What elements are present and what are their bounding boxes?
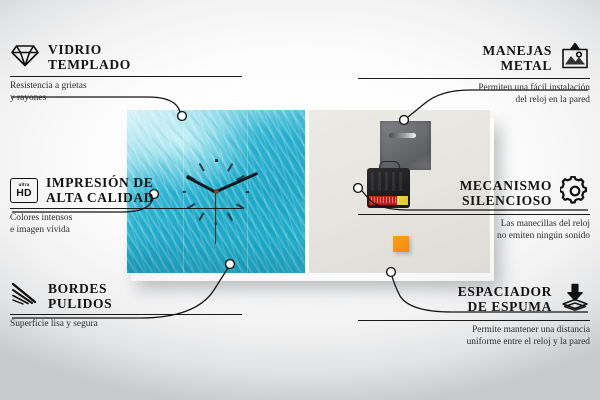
diamond-icon (10, 42, 40, 73)
feature-espaciador-espuma: ESPACIADOR DE ESPUMA Permite mantener un… (358, 282, 590, 348)
feature-title: ESPACIADOR DE ESPUMA (458, 285, 552, 314)
feature-title: IMPRESIÓN DE ALTA CALIDAD (46, 176, 154, 205)
feature-description: Permite mantener una distancia uniforme … (358, 325, 590, 348)
feature-header: ultra HD IMPRESIÓN DE ALTA CALIDAD (10, 176, 242, 205)
gear-icon (560, 176, 590, 211)
feature-header: BORDES PULIDOS (10, 282, 242, 311)
feature-description: Las manecillas del reloj no emiten ningú… (358, 219, 590, 242)
polished-edges-icon (10, 282, 40, 311)
feature-bordes-pulidos: BORDES PULIDOS Superficie lisa y segura (10, 282, 242, 331)
feature-header: MANEJAS METAL (358, 42, 590, 75)
feature-divider (10, 76, 242, 77)
feature-impresion-alta-calidad: ultra HD IMPRESIÓN DE ALTA CALIDAD Color… (10, 176, 242, 236)
feature-title: MANEJAS METAL (483, 44, 552, 73)
feature-title: BORDES PULIDOS (48, 282, 112, 311)
infographic-canvas: VIDRIO TEMPLADO Resistencia a grietas y … (0, 0, 600, 400)
feature-title: MECANISMO SILENCIOSO (460, 179, 552, 208)
feature-divider (358, 214, 590, 215)
down-arrow-pad-icon (560, 282, 590, 317)
feature-description: Superficie lisa y segura (10, 319, 242, 330)
feature-header: VIDRIO TEMPLADO (10, 42, 242, 73)
feature-divider (358, 78, 590, 79)
highlight-band-top (127, 110, 305, 138)
feature-divider (10, 208, 242, 209)
feature-divider (358, 320, 590, 321)
ultra-hd-icon: ultra HD (10, 178, 38, 203)
feature-mecanismo-silencioso: MECANISMO SILENCIOSO Las manecillas del … (358, 176, 590, 242)
feature-description: Colores intensos e imagen vívida (10, 213, 242, 236)
feature-manejas-metal: MANEJAS METAL Permiten una fácil instala… (358, 42, 590, 106)
framed-picture-icon (560, 42, 590, 75)
mechanism-bail (379, 161, 400, 171)
feature-header: ESPACIADOR DE ESPUMA (358, 282, 590, 317)
hanger-slot (389, 133, 416, 138)
feature-description: Permiten una fácil instalación del reloj… (358, 83, 590, 106)
shade-band-bottom (127, 239, 305, 273)
feature-description: Resistencia a grietas y rayones (10, 81, 242, 104)
feature-divider (10, 314, 242, 315)
feature-vidrio-templado: VIDRIO TEMPLADO Resistencia a grietas y … (10, 42, 242, 104)
feature-title: VIDRIO TEMPLADO (48, 43, 131, 72)
feature-header: MECANISMO SILENCIOSO (358, 176, 590, 211)
